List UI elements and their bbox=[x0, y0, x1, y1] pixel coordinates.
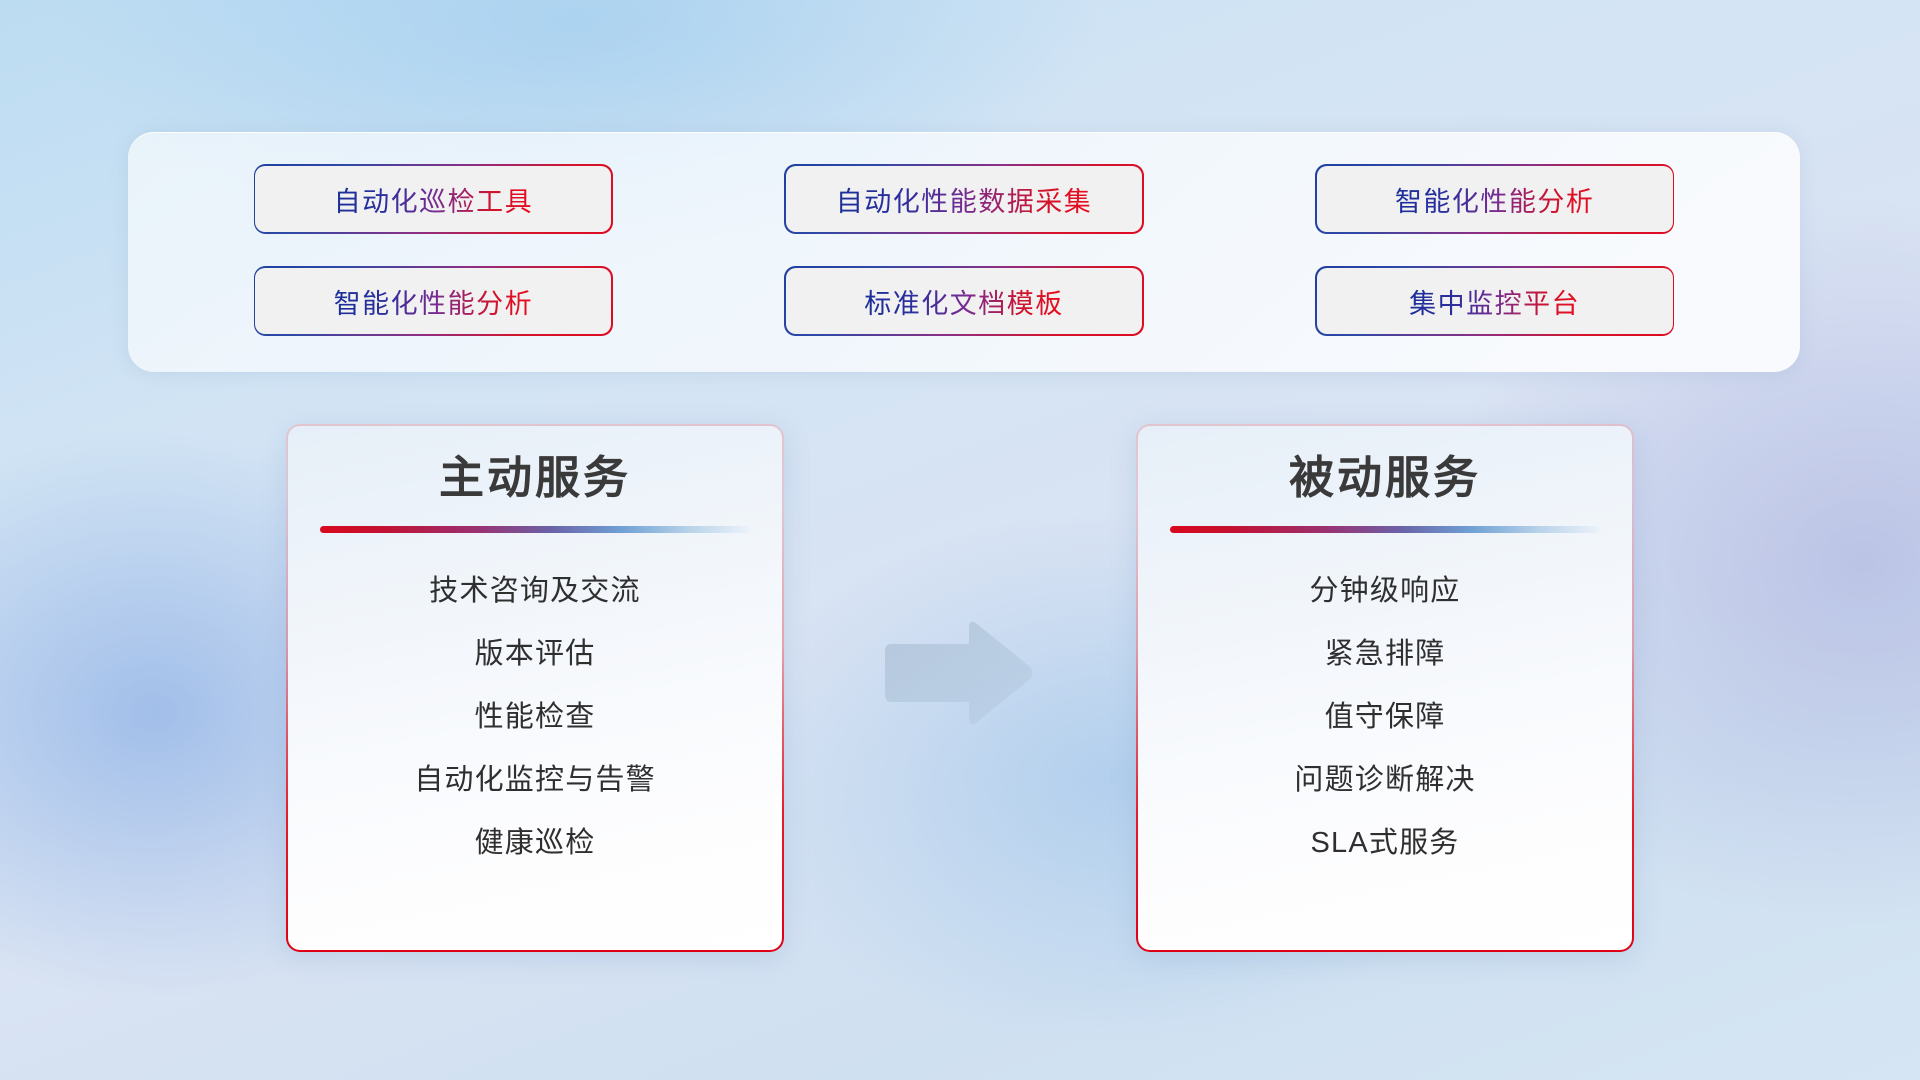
capability-tag[interactable]: 自动化性能数据采集 bbox=[786, 166, 1142, 232]
capability-tag-label: 自动化性能数据采集 bbox=[836, 180, 1093, 219]
capability-tag[interactable]: 智能化性能分析 bbox=[255, 268, 611, 334]
service-item: SLA式服务 bbox=[1310, 819, 1459, 861]
service-card-inner: 被动服务 分钟级响应 紧急排障 值守保障 问题诊断解决 SLA式服务 bbox=[1138, 426, 1632, 950]
service-card-divider bbox=[320, 526, 750, 533]
service-item: 紧急排障 bbox=[1325, 630, 1446, 672]
capability-tag-label: 智能化性能分析 bbox=[334, 282, 534, 321]
service-card-proactive: 主动服务 技术咨询及交流 版本评估 性能检查 自动化监控与告警 健康巡检 bbox=[286, 424, 784, 952]
arrow-right-icon bbox=[877, 618, 1037, 728]
capability-tag[interactable]: 集中监控平台 bbox=[1317, 268, 1673, 334]
service-item: 自动化监控与告警 bbox=[414, 756, 656, 798]
service-item: 问题诊断解决 bbox=[1294, 756, 1475, 798]
capability-tag-label: 标准化文档模板 bbox=[864, 282, 1064, 321]
service-item: 技术咨询及交流 bbox=[429, 567, 640, 609]
service-card-title: 主动服务 bbox=[439, 450, 631, 506]
capability-tag-label: 自动化巡检工具 bbox=[334, 180, 534, 219]
service-item: 分钟级响应 bbox=[1309, 567, 1460, 609]
service-card-title: 被动服务 bbox=[1289, 450, 1481, 506]
service-card-inner: 主动服务 技术咨询及交流 版本评估 性能检查 自动化监控与告警 健康巡检 bbox=[288, 426, 782, 950]
service-item: 健康巡检 bbox=[475, 819, 596, 861]
capability-tag-grid: 自动化巡检工具 自动化性能数据采集 智能化性能分析 智能化性能分析 标准化文档模… bbox=[128, 132, 1800, 372]
capability-tag[interactable]: 标准化文档模板 bbox=[786, 268, 1142, 334]
service-item: 版本评估 bbox=[475, 630, 596, 672]
service-item: 性能检查 bbox=[475, 693, 596, 735]
service-item-list: 技术咨询及交流 版本评估 性能检查 自动化监控与告警 健康巡检 bbox=[288, 567, 782, 861]
capability-tag[interactable]: 智能化性能分析 bbox=[1317, 166, 1673, 232]
service-card-reactive: 被动服务 分钟级响应 紧急排障 值守保障 问题诊断解决 SLA式服务 bbox=[1136, 424, 1634, 952]
service-item: 值守保障 bbox=[1325, 693, 1446, 735]
service-item-list: 分钟级响应 紧急排障 值守保障 问题诊断解决 SLA式服务 bbox=[1138, 567, 1632, 861]
service-card-divider bbox=[1170, 526, 1600, 533]
capability-tags-panel: 自动化巡检工具 自动化性能数据采集 智能化性能分析 智能化性能分析 标准化文档模… bbox=[128, 132, 1800, 372]
capability-tag[interactable]: 自动化巡检工具 bbox=[255, 166, 611, 232]
capability-tag-label: 智能化性能分析 bbox=[1395, 180, 1595, 219]
capability-tag-label: 集中监控平台 bbox=[1409, 282, 1580, 321]
